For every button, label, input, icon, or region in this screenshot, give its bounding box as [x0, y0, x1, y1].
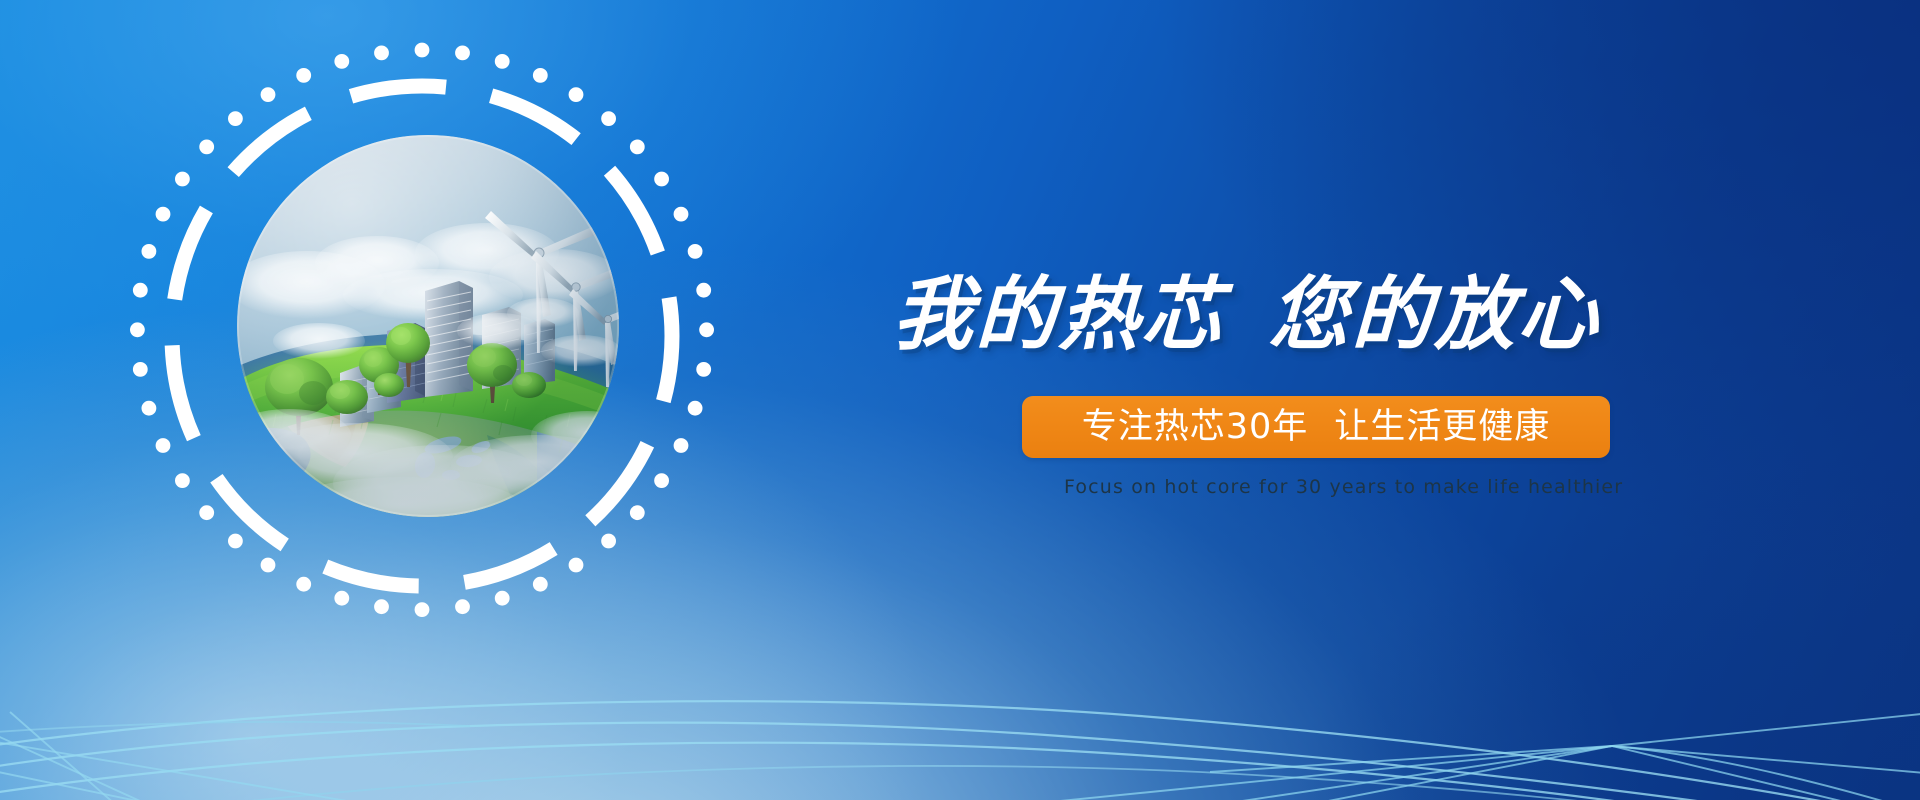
tagline-badge: 专注热芯30年让生活更健康 [1022, 396, 1610, 458]
headline-part-2: 您的放心 [1267, 268, 1602, 361]
english-subtitle: Focus on hot core for 30 years to make l… [1064, 478, 1570, 497]
eco-globe-graphic [124, 38, 720, 634]
badge-part-1: 专注热芯30年 [1082, 407, 1309, 447]
badge-part-2: 让生活更健康 [1334, 407, 1550, 447]
headline-slogan: 我的热芯您的放心 [892, 275, 1603, 355]
tagline-badge-text: 专注热芯30年让生活更健康 [1082, 410, 1551, 445]
earth-image [237, 135, 619, 517]
hero-banner: 我的热芯您的放心 专注热芯30年让生活更健康 Focus on hot core… [0, 0, 1920, 800]
earth-scene-illustration [237, 135, 619, 517]
headline-part-1: 我的热芯 [891, 268, 1226, 361]
